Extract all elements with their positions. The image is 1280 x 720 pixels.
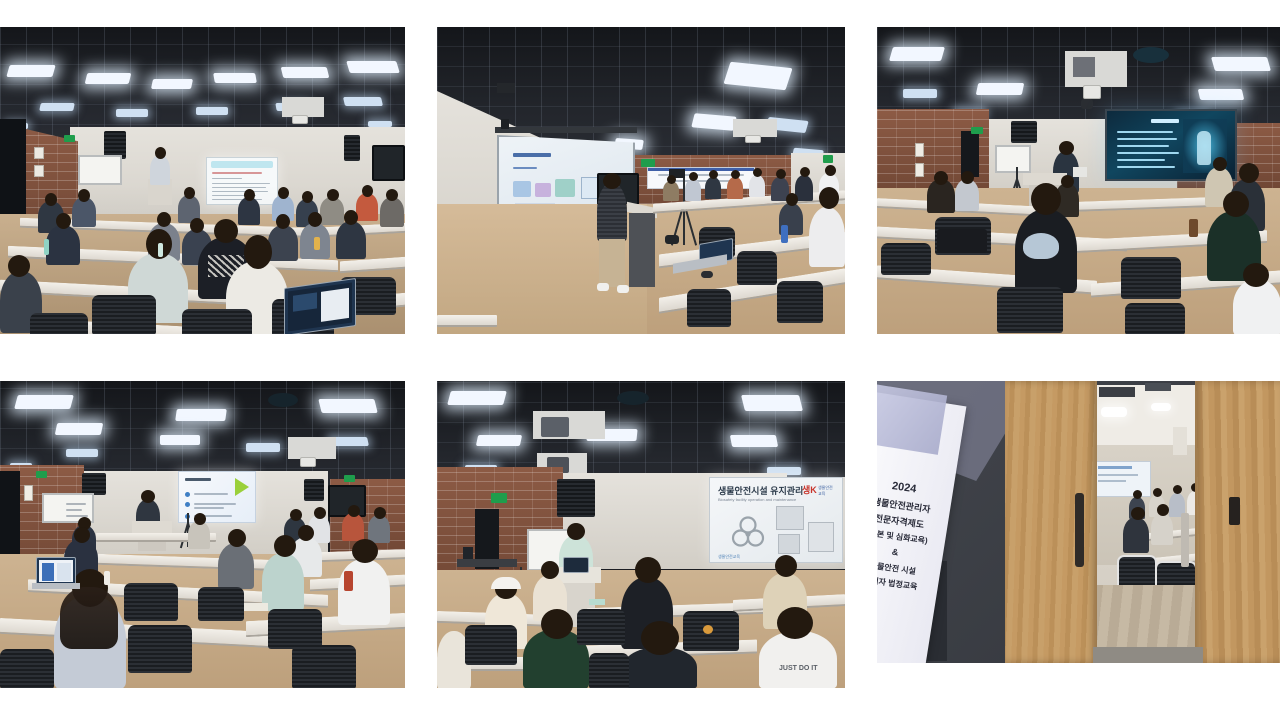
photo-3-instructor-with-dark-slide: [877, 27, 1280, 334]
door-handle-right[interactable]: [1229, 497, 1240, 525]
banner-line-2: 생물안전관리자: [877, 496, 931, 515]
photo-4-female-instructor-agenda-slide: [0, 381, 405, 688]
banner-line-7: 관리자 법정교육: [877, 575, 918, 592]
door-handle-left[interactable]: [1075, 493, 1084, 567]
photo-2-presenter-at-lectern-side-view: [437, 27, 845, 334]
banner-line-5: &: [891, 547, 899, 559]
biohazard-icon: [728, 512, 768, 552]
photo-grid: 생물안전시설 유지관리 Biosafety facility operation…: [0, 0, 1280, 720]
banner-line-1: 2024: [891, 480, 917, 497]
photo-5-biosafety-facility-maintenance-lecture: 생물안전시설 유지관리 Biosafety facility operation…: [437, 381, 845, 688]
photo-6-entrance-door-with-event-banner: 2024 생물안전관리자 전문자격제도 (기본 및 심화교육) & 생물안전 시…: [877, 381, 1280, 663]
banner-line-4: (기본 및 심화교육): [877, 528, 928, 546]
banner-line-6: 생물안전 시설: [877, 560, 916, 576]
photo-1-lecture-hall-wide-rear-view: [0, 27, 405, 334]
banner-line-3: 전문자격제도: [877, 513, 925, 531]
slide-title-photo5: 생물안전시설 유지관리: [718, 484, 803, 497]
